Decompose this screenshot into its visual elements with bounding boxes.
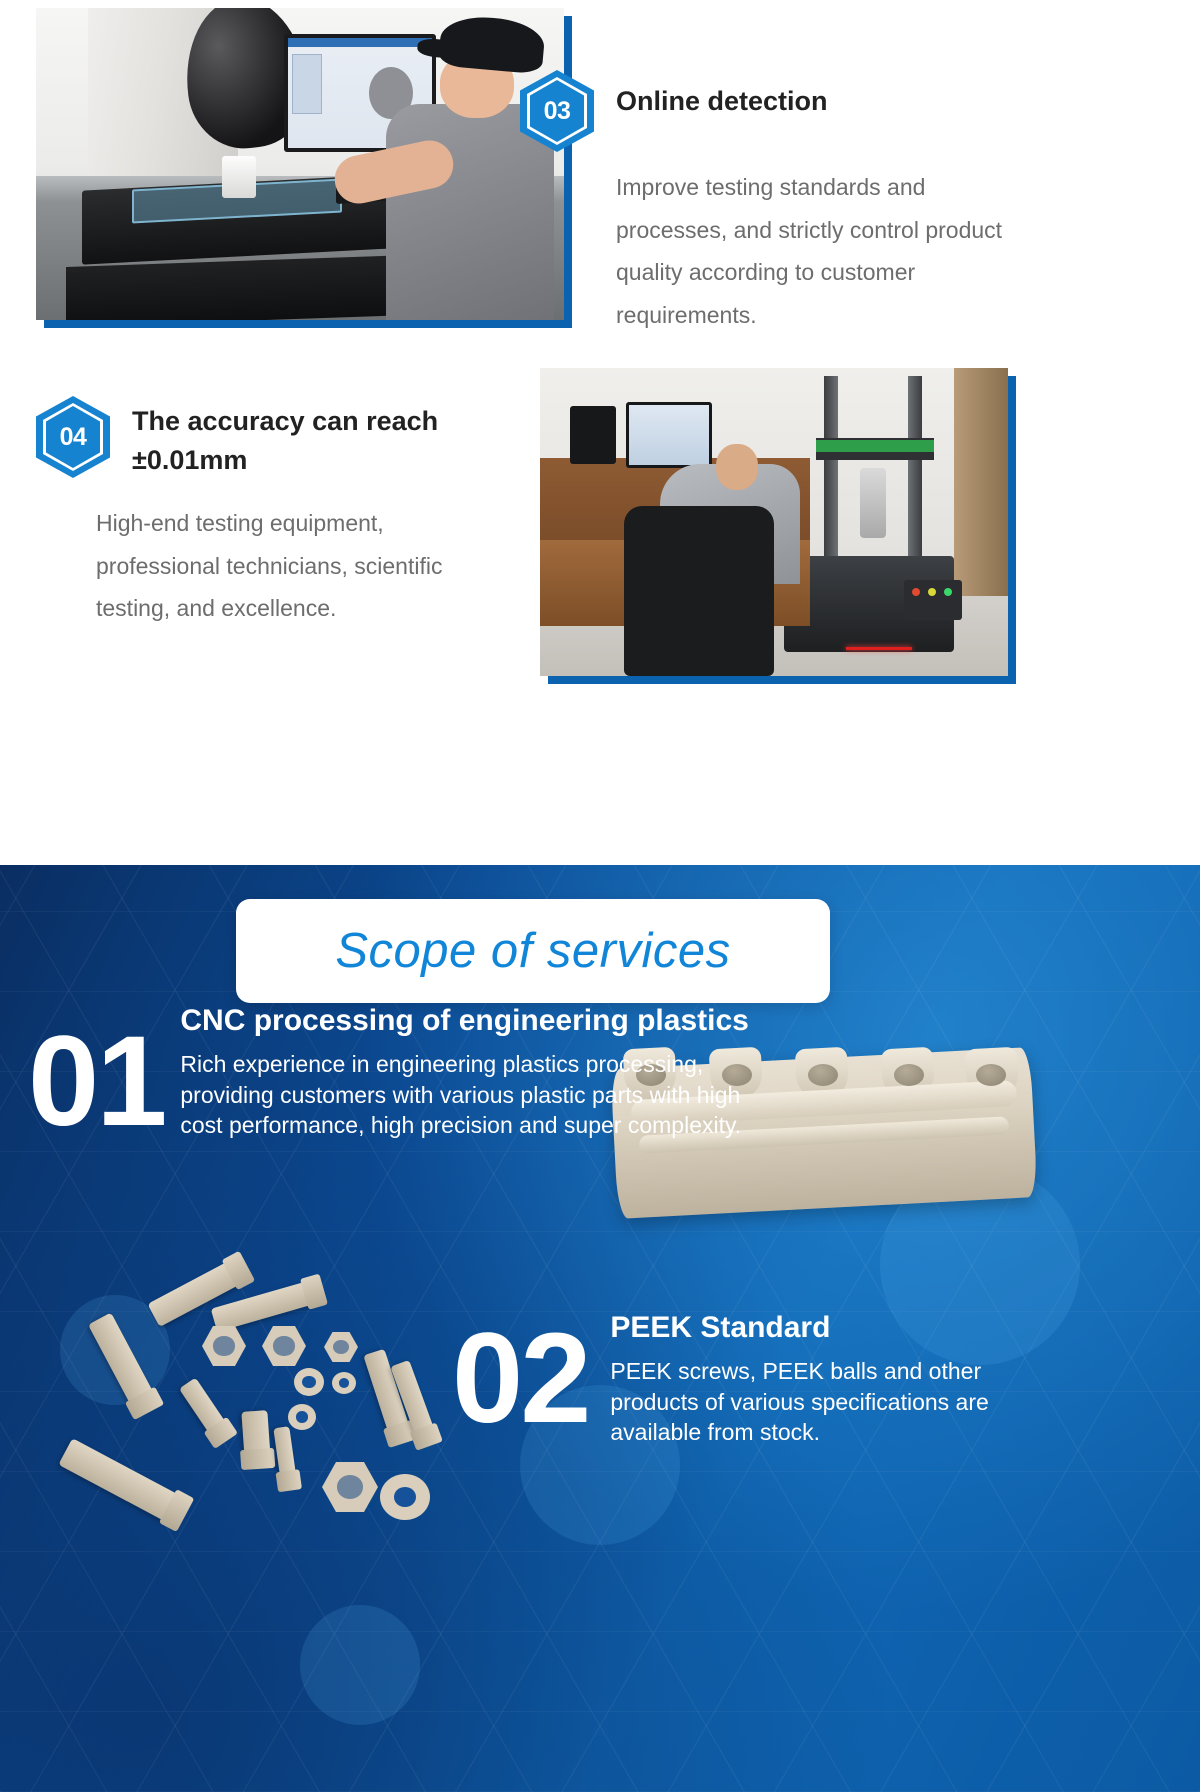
hexagon-badge-icon: 04: [36, 396, 110, 478]
scope-title: Scope of services: [335, 923, 730, 979]
feature-body: High-end testing equipment, professional…: [96, 502, 506, 630]
badge-number: 04: [60, 423, 87, 452]
feature-03-head: 03 Online detection: [520, 70, 1036, 152]
detection-photo: [36, 8, 564, 320]
peek-screws-photo: [36, 1270, 456, 1570]
feature-title: The accuracy can reach ±0.01mm: [132, 396, 506, 480]
accuracy-photo: [540, 368, 1008, 676]
hexagon-badge-icon: 03: [520, 70, 594, 152]
service-body: PEEK screws, PEEK balls and other produc…: [610, 1356, 1052, 1448]
lab-scene-illustration: [36, 8, 564, 320]
feature-accuracy: 04 The accuracy can reach ±0.01mm High-e…: [36, 396, 506, 630]
service-item-02: 02 PEEK Standard PEEK screws, PEEK balls…: [452, 1310, 1052, 1448]
test-lab-illustration: [540, 368, 1008, 676]
service-number: 02: [452, 1318, 588, 1441]
scope-of-services-card: Scope of services: [236, 899, 830, 1003]
service-item-01: 01 CNC processing of engineering plastic…: [28, 1003, 648, 1144]
feature-body: Improve testing standards and processes,…: [616, 166, 1036, 336]
service-number: 01: [28, 1021, 164, 1144]
detection-photo-frame: [36, 8, 564, 320]
feature-04-head: 04 The accuracy can reach ±0.01mm: [36, 396, 506, 480]
service-title: CNC processing of engineering plastics: [180, 1003, 748, 1039]
features-section: 03 Online detection Improve testing stan…: [0, 0, 1200, 865]
accuracy-photo-frame: [540, 368, 1008, 676]
feature-online-detection: 03 Online detection Improve testing stan…: [616, 70, 1036, 336]
service-body: Rich experience in engineering plastics …: [180, 1049, 748, 1141]
badge-number: 03: [544, 97, 571, 126]
feature-title: Online detection: [616, 70, 828, 121]
service-title: PEEK Standard: [610, 1310, 1052, 1346]
